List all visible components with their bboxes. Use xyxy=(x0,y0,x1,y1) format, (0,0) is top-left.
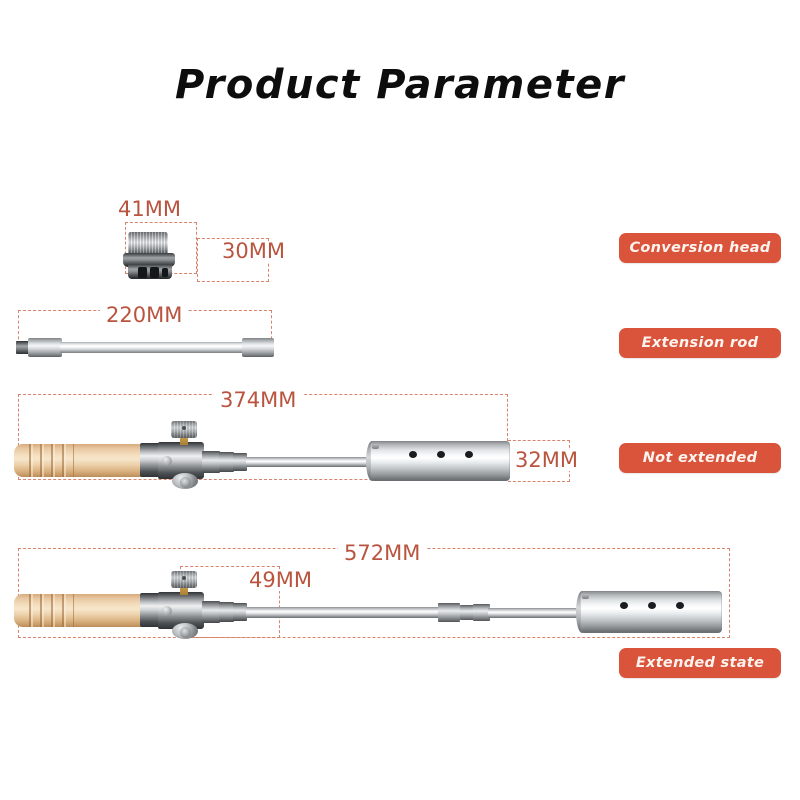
wooden-handle xyxy=(14,444,146,477)
badge-extension-rod[interactable]: Extension rod xyxy=(619,328,781,358)
torch-extended-art xyxy=(14,565,730,645)
dimension-label-220mm: 220MM xyxy=(100,305,188,326)
extension-rod-art xyxy=(16,335,274,359)
dimension-label-572mm: 572MM xyxy=(338,543,426,564)
burner-head-extended xyxy=(580,591,722,633)
torch-not-extended-art xyxy=(14,415,514,495)
dimension-label-32mm: 32MM xyxy=(509,450,584,471)
wooden-handle-extended xyxy=(14,594,146,627)
badge-not-extended[interactable]: Not extended xyxy=(619,443,781,473)
extension-coupler xyxy=(438,603,460,622)
product-parameter-diagram: Product Parameter 41MM 30MM Conversion h… xyxy=(0,0,800,800)
dimension-label-30mm: 30MM xyxy=(216,241,291,262)
badge-conversion-head[interactable]: Conversion head xyxy=(619,233,781,263)
badge-extended-state[interactable]: Extended state xyxy=(619,648,781,678)
dimension-label-41mm: 41MM xyxy=(112,199,187,220)
page-title: Product Parameter xyxy=(0,62,800,108)
torch-tube xyxy=(246,457,374,467)
burner-head xyxy=(370,441,510,481)
dimension-label-374mm: 374MM xyxy=(214,390,302,411)
conversion-head-art xyxy=(122,230,182,280)
